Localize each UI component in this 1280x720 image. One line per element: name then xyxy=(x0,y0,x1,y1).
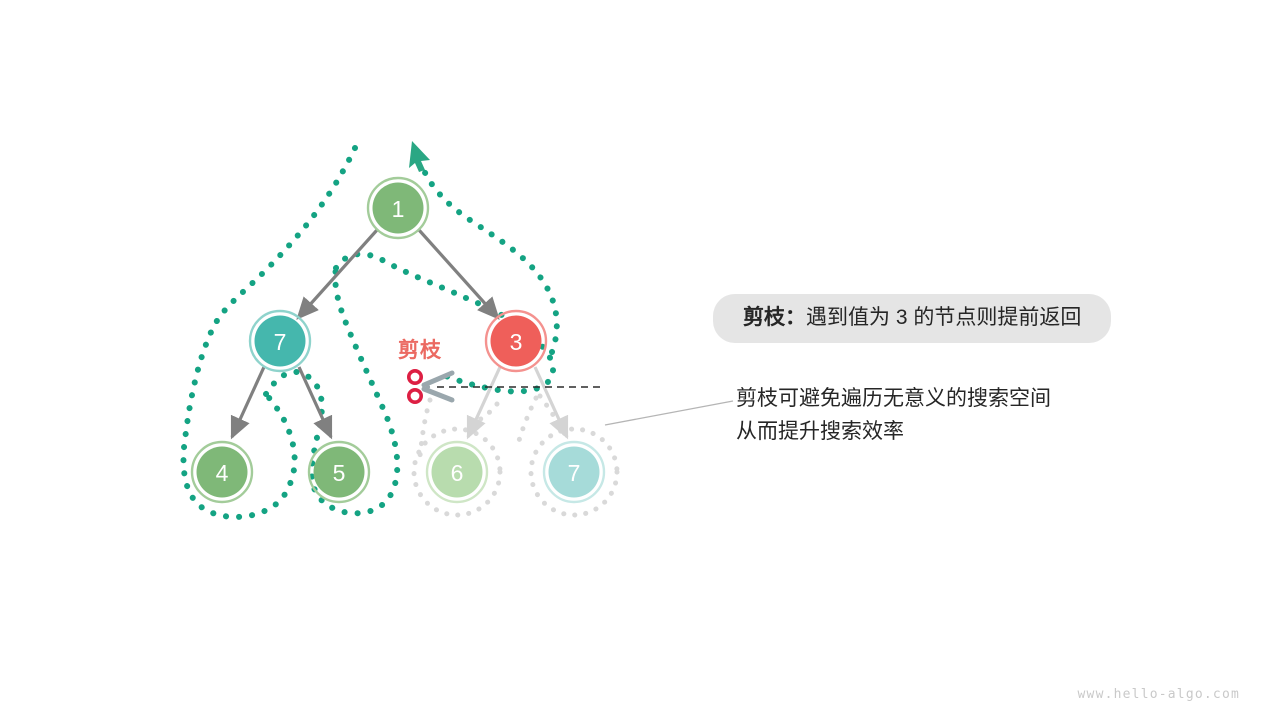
tree-node-5[interactable]: 5 xyxy=(309,442,369,502)
prune-callout-prefix: 剪枝： xyxy=(743,306,806,329)
prune-callout-box: 剪枝：遇到值为 3 的节点则提前返回 xyxy=(713,294,1111,343)
tree-node-4[interactable]: 4 xyxy=(192,442,252,502)
tree-node-7-left[interactable]: 7 xyxy=(250,311,310,371)
tree-diagram-svg: 1 7 3 4 5 6 xyxy=(0,0,1280,720)
edge-3-7r xyxy=(535,367,567,437)
prune-note-line-1: 剪枝可避免遍历无意义的搜索空间 xyxy=(736,383,1051,416)
tree-node-6-label: 6 xyxy=(451,460,464,486)
prune-callout-body: 遇到值为 3 的节点则提前返回 xyxy=(806,306,1081,329)
scissors-icon xyxy=(409,371,452,402)
prune-note-line-2: 从而提升搜索效率 xyxy=(736,416,904,449)
tree-node-7-left-label: 7 xyxy=(274,329,287,355)
tree-node-3-pruned[interactable]: 3 xyxy=(486,311,546,371)
tree-node-7-right-label: 7 xyxy=(568,460,581,486)
tree-node-6-skipped[interactable]: 6 xyxy=(427,442,487,502)
tree-node-4-label: 4 xyxy=(216,460,229,486)
edge-7-5 xyxy=(299,367,331,437)
tree-node-1[interactable]: 1 xyxy=(368,178,428,238)
edge-7-4 xyxy=(232,367,264,437)
tree-node-1-label: 1 xyxy=(392,196,405,222)
edge-1-7 xyxy=(298,230,377,318)
site-watermark: www.hello-algo.com xyxy=(1078,687,1240,702)
tree-node-3-label: 3 xyxy=(510,329,523,355)
note-leader-line xyxy=(605,401,733,425)
edge-3-6 xyxy=(468,367,500,437)
cursor-arrow-icon xyxy=(409,141,430,172)
tree-node-5-label: 5 xyxy=(333,460,346,486)
tree-node-7-right-skipped[interactable]: 7 xyxy=(544,442,604,502)
diagram-canvas: 1 7 3 4 5 6 xyxy=(0,0,1280,720)
prune-keyword-label: 剪枝 xyxy=(398,334,442,364)
edge-1-3 xyxy=(419,230,498,318)
